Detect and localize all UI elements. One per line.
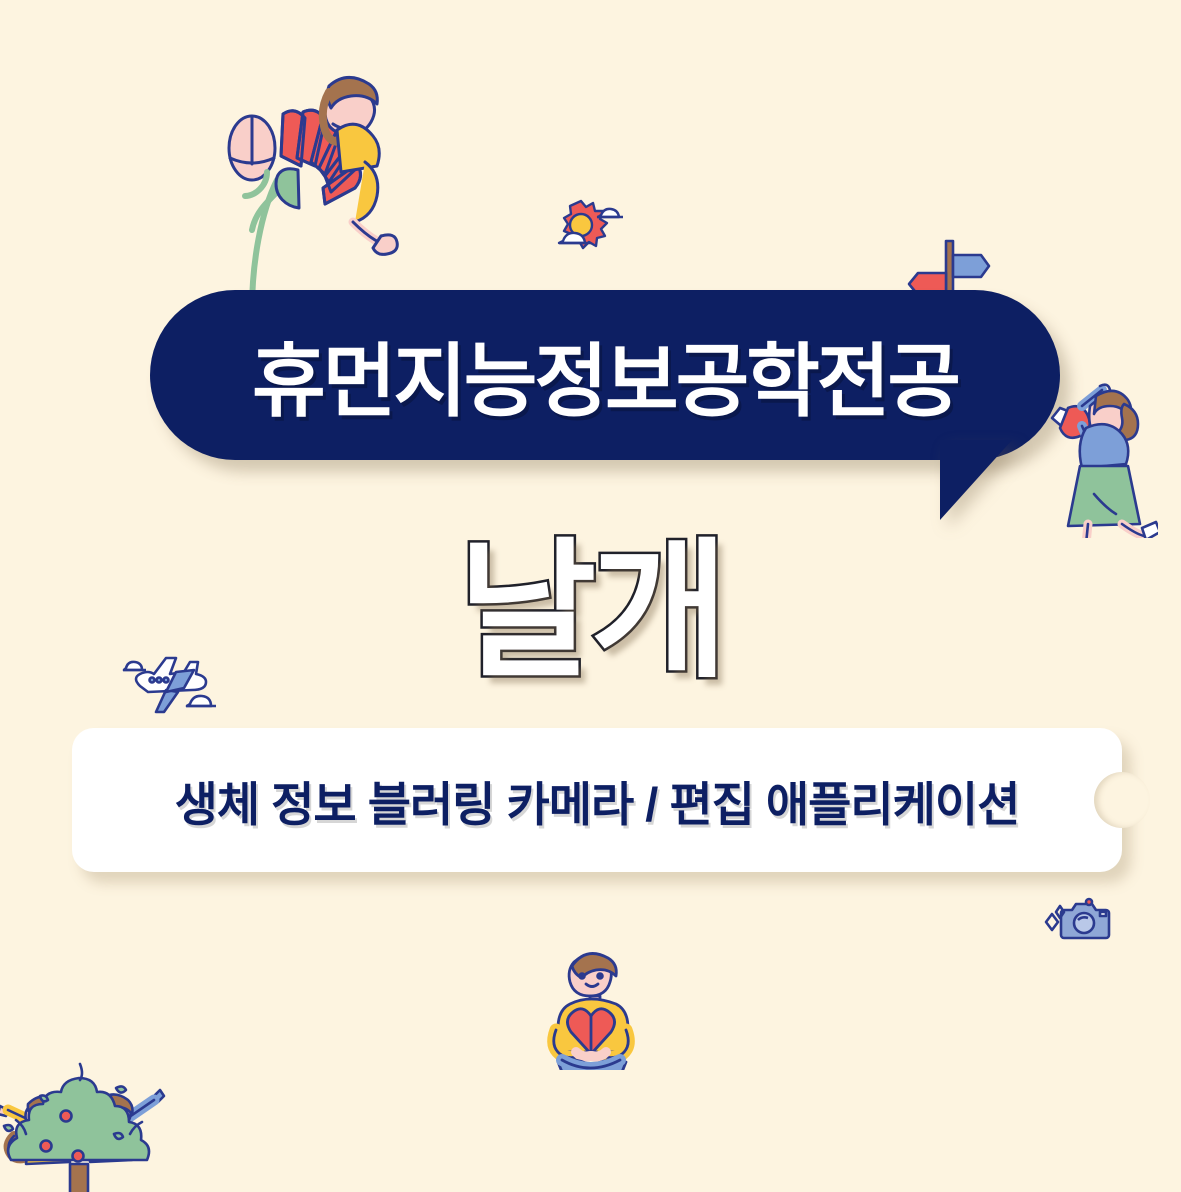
airplane-icon (118, 650, 228, 720)
person-holding-heart-illustration (530, 940, 650, 1070)
subtitle-text: 생체 정보 블러링 카메라 / 편집 애플리케이션 (72, 728, 1122, 872)
camera-icon (1040, 890, 1120, 950)
sun-and-clouds-icon (551, 195, 631, 255)
children-behind-tree-illustration (0, 1052, 174, 1192)
poster-canvas: 휴먼지능정보공학전공 날개 (0, 0, 1181, 1181)
department-banner: 휴먼지능정보공학전공 (150, 290, 1060, 460)
banner-label: 휴먼지능정보공학전공 (150, 290, 1060, 460)
